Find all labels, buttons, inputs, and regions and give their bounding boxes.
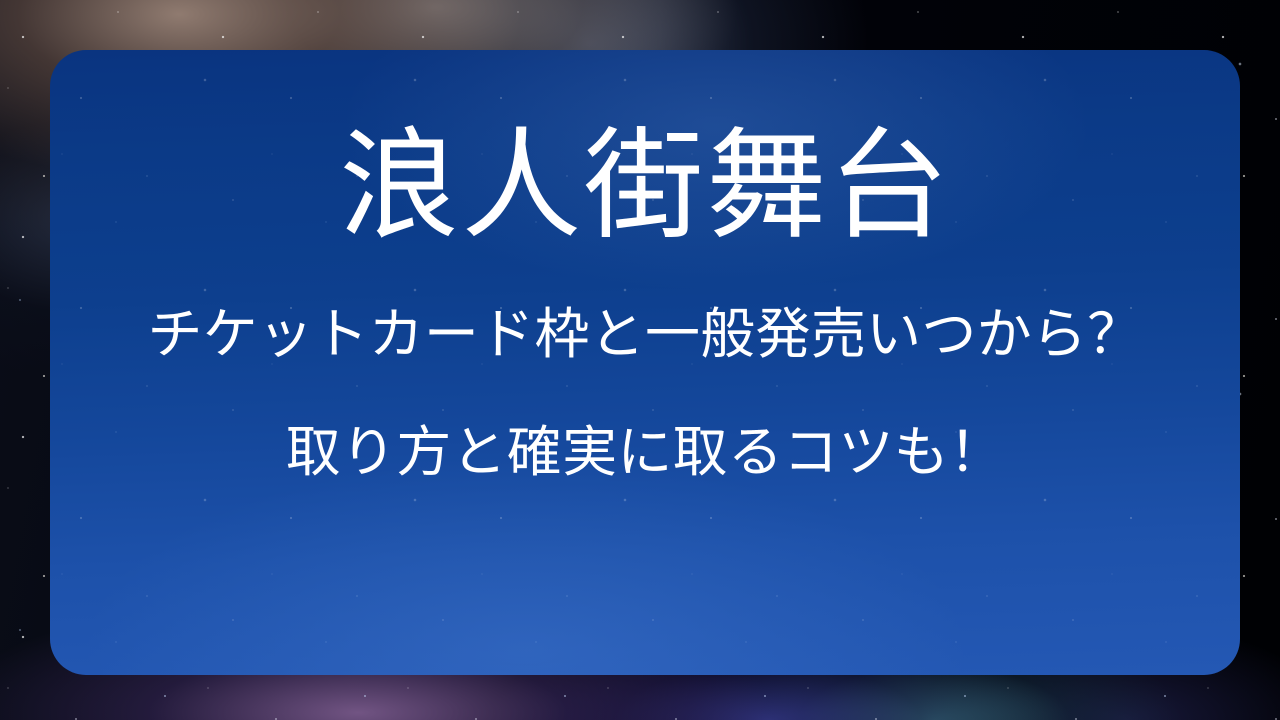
- blue-rounded-panel: 浪人街舞台 チケットカード枠と一般発売いつから？ 取り方と確実に取るコツも！: [50, 50, 1240, 675]
- subtitle-block: チケットカード枠と一般発売いつから？ 取り方と確実に取るコツも！: [148, 304, 1143, 483]
- page-title: 浪人街舞台: [339, 122, 951, 252]
- subtitle-line-2: 取り方と確実に取るコツも！: [286, 422, 1005, 483]
- subtitle-line-1: チケットカード枠と一般発売いつから？: [148, 304, 1143, 365]
- panel-content: 浪人街舞台 チケットカード枠と一般発売いつから？ 取り方と確実に取るコツも！: [50, 50, 1240, 675]
- thumbnail-canvas: 浪人街舞台 チケットカード枠と一般発売いつから？ 取り方と確実に取るコツも！: [0, 0, 1280, 720]
